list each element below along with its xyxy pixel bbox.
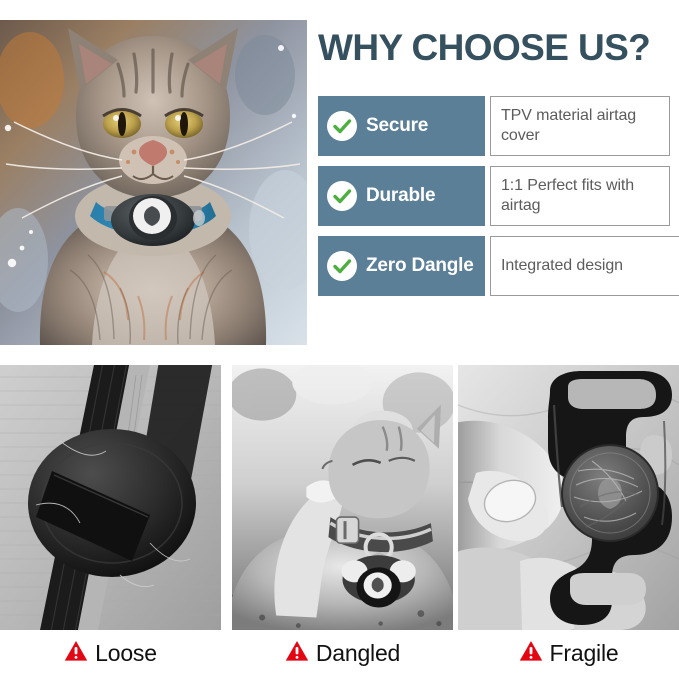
feature-label-cell-durable: Durable	[318, 166, 485, 226]
panel-caption-dangled: Dangled	[232, 630, 453, 676]
warning-triangle-icon	[519, 640, 543, 667]
feature-description-secure: TPV material airtag cover	[501, 106, 669, 146]
panel-caption-text-dangled: Dangled	[316, 640, 400, 667]
feature-description-cell-durable: 1:1 Perfect fits with airtag	[490, 166, 670, 226]
feature-row-durable: Durable 1:1 Perfect fits with airtag	[318, 166, 672, 226]
feature-row-secure: Secure TPV material airtag cover	[318, 96, 672, 156]
check-circle-icon	[327, 111, 357, 141]
feature-label-zero-dangle: Zero Dangle	[366, 255, 474, 277]
comparison-panel-loose: Loose	[0, 365, 221, 676]
page-title: WHY CHOOSE US?	[318, 26, 676, 70]
feature-label-cell-zero-dangle: Zero Dangle	[318, 236, 485, 296]
check-circle-icon	[327, 251, 357, 281]
loose-airtag-photo	[0, 365, 221, 630]
panel-caption-text-fragile: Fragile	[550, 640, 619, 667]
panel-caption-fragile: Fragile	[458, 630, 679, 676]
feature-description-zero-dangle: Integrated design	[501, 256, 623, 276]
panel-caption-loose: Loose	[0, 630, 221, 676]
dangled-airtag-photo	[232, 365, 453, 630]
feature-label-secure: Secure	[366, 115, 428, 137]
why-choose-us-section: WHY CHOOSE US? Secure TPV material airta…	[0, 0, 679, 352]
fragile-airtag-photo-graphic	[458, 365, 679, 630]
feature-description-durable: 1:1 Perfect fits with airtag	[501, 176, 669, 216]
fragile-airtag-photo	[458, 365, 679, 630]
dangled-airtag-photo-graphic	[232, 365, 453, 630]
warning-triangle-icon	[64, 640, 88, 667]
comparison-panel-dangled: Dangled	[232, 365, 453, 676]
feature-label-durable: Durable	[366, 185, 435, 207]
warning-triangle-icon	[285, 640, 309, 667]
loose-airtag-photo-graphic	[0, 365, 221, 630]
feature-label-cell-secure: Secure	[318, 96, 485, 156]
feature-row-zero-dangle: Zero Dangle Integrated design	[318, 236, 672, 296]
features-table: Secure TPV material airtag cover Durable…	[318, 96, 672, 296]
feature-description-cell-secure: TPV material airtag cover	[490, 96, 670, 156]
hero-cat-photo	[0, 20, 307, 345]
check-circle-icon	[327, 181, 357, 211]
feature-description-cell-zero-dangle: Integrated design	[490, 236, 679, 296]
hero-cat-photo-graphic	[0, 20, 307, 345]
panel-caption-text-loose: Loose	[95, 640, 157, 667]
comparison-panel-fragile: Fragile	[458, 365, 679, 676]
problem-comparison-section: Loose	[0, 365, 679, 676]
